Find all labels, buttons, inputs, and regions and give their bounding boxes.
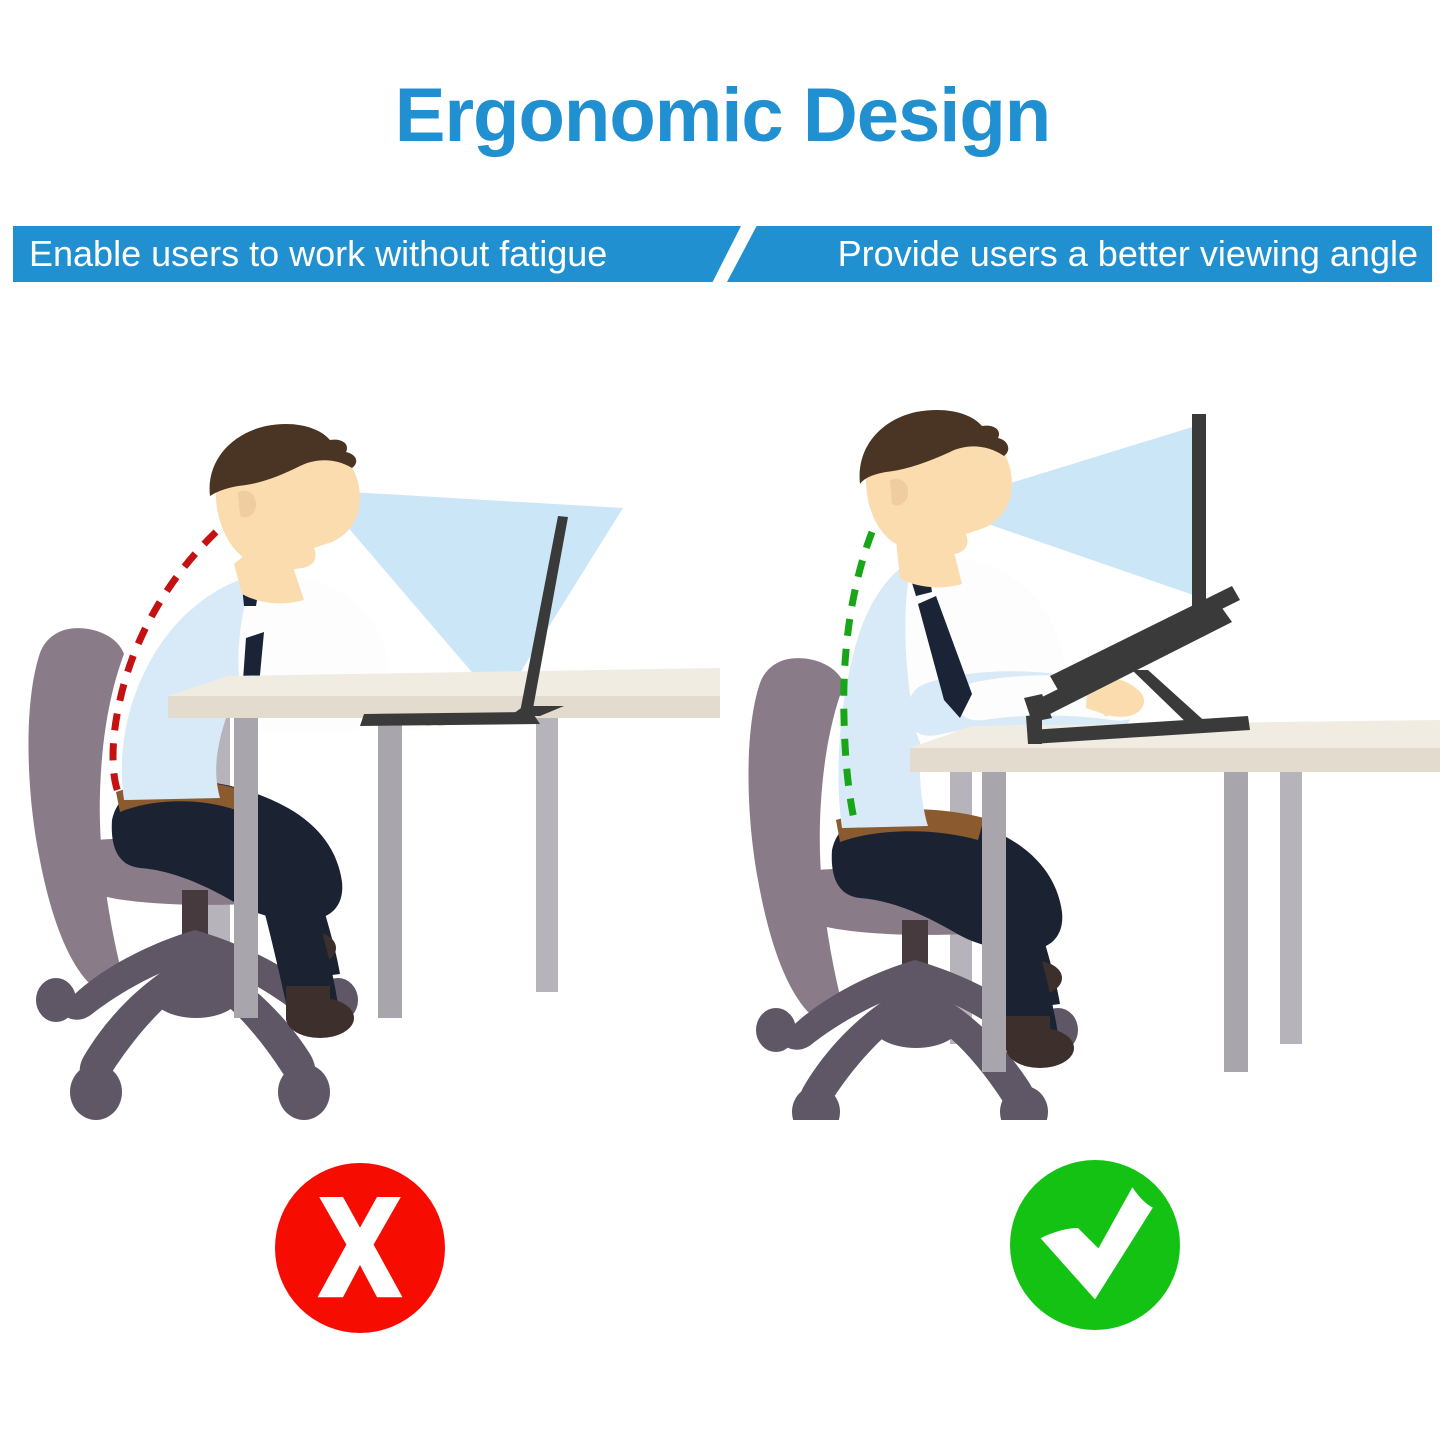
banner-left-text: Enable users to work without fatigue bbox=[13, 226, 741, 282]
illustration-bad-posture bbox=[20, 400, 720, 1120]
page-title: Ergonomic Design bbox=[0, 72, 1445, 159]
laptop-screen bbox=[1192, 414, 1206, 614]
chair-backrest bbox=[29, 628, 125, 982]
cross-icon bbox=[275, 1163, 445, 1333]
check-icon bbox=[1010, 1160, 1180, 1330]
infographic-root: Ergonomic Design Enable users to work wi… bbox=[0, 0, 1445, 1445]
illustration-good-posture bbox=[740, 400, 1440, 1120]
banner-right-text: Provide users a better viewing angle bbox=[727, 226, 1432, 282]
chair-backrest bbox=[749, 658, 845, 1012]
banner: Enable users to work without fatigue Pro… bbox=[13, 226, 1432, 282]
